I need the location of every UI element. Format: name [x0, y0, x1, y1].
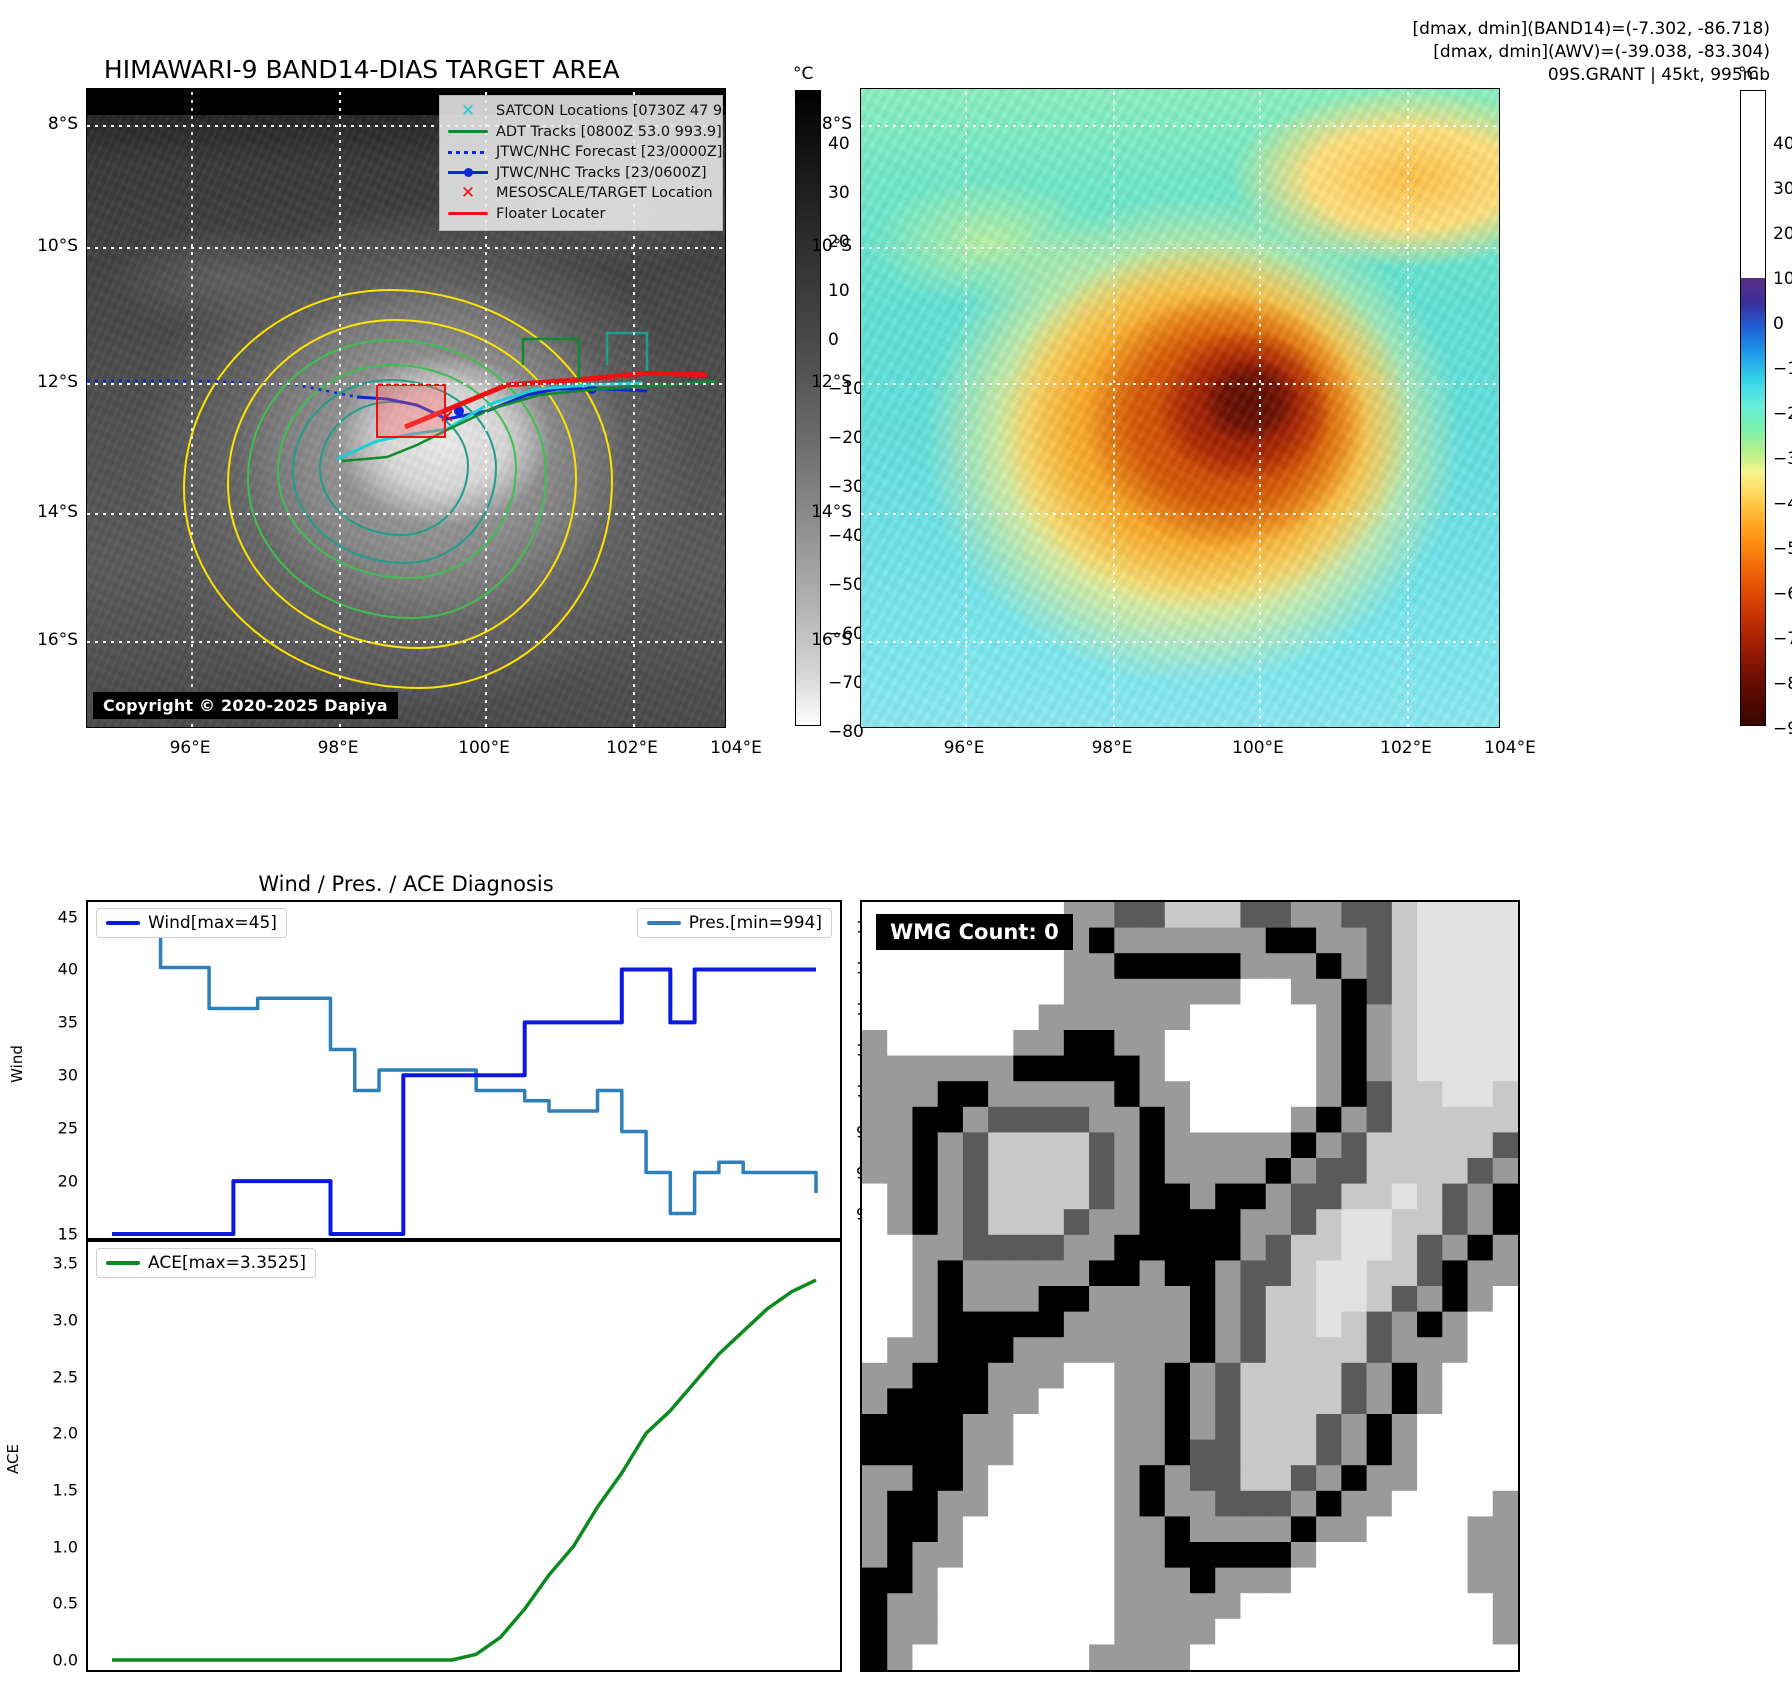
wmg-cell	[938, 1184, 964, 1210]
wmg-cell	[1165, 1184, 1191, 1210]
wmg-cell	[912, 1312, 938, 1338]
wmg-cell	[1190, 1004, 1216, 1030]
ir-lat-tick: 16°S	[37, 630, 78, 650]
forecast-dotted-line-icon	[447, 144, 489, 160]
wmg-cell	[1064, 1388, 1090, 1414]
wmg-cell	[1316, 1644, 1342, 1670]
wmg-cell	[938, 1465, 964, 1491]
wmg-cell	[1442, 1209, 1468, 1235]
wmg-cell	[887, 1056, 913, 1082]
wmg-cell	[1013, 1516, 1039, 1542]
wmg-cell	[1291, 1440, 1317, 1466]
wmg-cell	[988, 1619, 1014, 1645]
gridline-lon-98e	[1113, 89, 1115, 727]
wmg-cell	[1240, 1388, 1266, 1414]
wmg-cell	[1417, 1184, 1443, 1210]
wmg-cell	[1291, 1235, 1317, 1261]
ace-y-tick: 0.0	[53, 1651, 78, 1670]
wmg-cell	[1316, 1363, 1342, 1389]
wmg-cell	[1367, 1081, 1393, 1107]
wmg-cell	[912, 1568, 938, 1594]
wmg-cell	[862, 1030, 888, 1056]
wmg-cell	[963, 953, 989, 979]
wmg-cell	[1140, 1491, 1166, 1517]
wmg-cell	[1215, 1491, 1241, 1517]
wmg-cell	[1165, 1568, 1191, 1594]
wmg-cell	[1140, 1056, 1166, 1082]
wmg-cell	[1341, 1107, 1367, 1133]
wmg-cell	[1392, 1414, 1418, 1440]
wmg-cell	[1266, 1107, 1292, 1133]
wmg-cell	[1039, 1030, 1065, 1056]
wmg-cell	[1417, 1312, 1443, 1338]
wmg-cell	[862, 1312, 888, 1338]
wmg-cell	[887, 1004, 913, 1030]
wmg-cell	[1341, 1184, 1367, 1210]
gridline-lat-16s	[861, 641, 1499, 643]
ace-y-tick: 2.0	[53, 1424, 78, 1443]
wmg-cell	[1468, 1004, 1494, 1030]
ace-y-tick: 3.5	[53, 1254, 78, 1273]
wmg-cell	[1089, 1363, 1115, 1389]
wmg-cell	[1493, 1081, 1518, 1107]
wmg-cell	[1089, 1030, 1115, 1056]
wmg-cell	[938, 1644, 964, 1670]
wmg-cell	[1442, 1158, 1468, 1184]
wmg-cell	[963, 1465, 989, 1491]
wmg-cell	[1367, 1619, 1393, 1645]
wmg-cell	[1064, 1132, 1090, 1158]
pressure-legend[interactable]: Pres.[min=994]	[637, 908, 832, 938]
wmg-cell	[963, 1337, 989, 1363]
wmg-cell	[1266, 1312, 1292, 1338]
wmg-cell	[1064, 1056, 1090, 1082]
wmg-cell	[1165, 1004, 1191, 1030]
wmg-cell	[1493, 1312, 1518, 1338]
wmg-cell	[1190, 1260, 1216, 1286]
wmg-cell	[1013, 1593, 1039, 1619]
wmg-cell	[1013, 1619, 1039, 1645]
wmg-cell	[1417, 953, 1443, 979]
wmg-cell	[1089, 1491, 1115, 1517]
wind-axis-label: Wind	[8, 1045, 26, 1083]
wmg-cell	[1266, 1056, 1292, 1082]
legend-item-mesoscale[interactable]: ✕ MESOSCALE/TARGET Location	[447, 183, 715, 204]
wmg-cell	[1367, 1593, 1393, 1619]
wmg-cell	[963, 1542, 989, 1568]
wmg-cell	[887, 1132, 913, 1158]
wmg-cell	[1341, 1132, 1367, 1158]
wmg-cell	[1493, 928, 1518, 954]
wmg-cell	[938, 1056, 964, 1082]
wmg-cell	[1013, 1491, 1039, 1517]
wmg-cell	[1190, 1158, 1216, 1184]
wmg-cell	[1013, 1440, 1039, 1466]
legend-item-satcon[interactable]: ✕ SATCON Locations [0730Z 47 993]	[447, 101, 715, 122]
wmg-cell	[1190, 1644, 1216, 1670]
wmg-cell	[1089, 1465, 1115, 1491]
wmg-cell	[1367, 953, 1393, 979]
wmg-cell	[988, 1516, 1014, 1542]
wmg-cell	[1367, 1260, 1393, 1286]
wmg-cell	[1190, 1337, 1216, 1363]
wmg-cell	[1039, 1568, 1065, 1594]
ace-y-tick: 1.5	[53, 1481, 78, 1500]
wmg-cell	[1316, 1158, 1342, 1184]
wmg-cell	[1266, 1004, 1292, 1030]
wmg-cell	[1341, 1286, 1367, 1312]
wmg-cell	[1442, 1184, 1468, 1210]
wmg-cell	[1417, 1414, 1443, 1440]
wmg-cell	[963, 1312, 989, 1338]
wmg-cell	[1417, 1235, 1443, 1261]
wmg-cell	[1039, 1107, 1065, 1133]
ir-lat-axis: 8°S 10°S 12°S 14°S 16°S	[0, 88, 78, 728]
wmg-cell	[1140, 1081, 1166, 1107]
wmg-cell	[988, 1542, 1014, 1568]
wmg-cell	[1013, 1132, 1039, 1158]
wmg-cell	[1468, 1030, 1494, 1056]
gridline-lat-16s	[87, 641, 725, 643]
awv-cb-tick: −30	[1773, 449, 1792, 469]
wmg-cell	[1039, 1235, 1065, 1261]
wmg-cell	[963, 1004, 989, 1030]
wmg-cell	[1190, 1619, 1216, 1645]
ace-y-tick: 1.0	[53, 1537, 78, 1556]
wmg-cell	[1367, 1414, 1393, 1440]
wmg-cell	[938, 1593, 964, 1619]
wmg-cell	[1064, 1337, 1090, 1363]
wmg-cell	[1140, 1619, 1166, 1645]
wmg-cell	[1392, 1337, 1418, 1363]
wmg-cell	[1417, 1465, 1443, 1491]
gridline-lat-12s	[87, 383, 725, 385]
wmg-cell	[1468, 1081, 1494, 1107]
wmg-cell	[1493, 1132, 1518, 1158]
awv-colorbar-unit: °C	[1738, 64, 1758, 84]
wmg-cell	[1140, 979, 1166, 1005]
wmg-cell	[1165, 1619, 1191, 1645]
wmg-cell	[963, 1286, 989, 1312]
wmg-cell	[963, 1363, 989, 1389]
wmg-cell	[1291, 1619, 1317, 1645]
wmg-cell	[1215, 1337, 1241, 1363]
wmg-cell	[1215, 1235, 1241, 1261]
wmg-cell	[1468, 1312, 1494, 1338]
wmg-cell	[1140, 1542, 1166, 1568]
wmg-cell	[912, 1158, 938, 1184]
awv-lat-tick: 12°S	[811, 372, 852, 392]
wmg-cell	[1039, 1209, 1065, 1235]
wmg-cell	[1367, 1465, 1393, 1491]
ace-legend-swatch	[106, 1261, 140, 1265]
wmg-cell	[1013, 1568, 1039, 1594]
wmg-cell	[1266, 1414, 1292, 1440]
wmg-cell	[862, 1235, 888, 1261]
wmg-cell	[1140, 1158, 1166, 1184]
wmg-cell	[912, 1363, 938, 1389]
wmg-cell	[1165, 1363, 1191, 1389]
wmg-cell	[938, 1004, 964, 1030]
wmg-cell	[1417, 1158, 1443, 1184]
wmg-cell	[1493, 1516, 1518, 1542]
wmg-cell	[1442, 1056, 1468, 1082]
wmg-cell	[1291, 1644, 1317, 1670]
wmg-cell	[1316, 1312, 1342, 1338]
ace-legend-label: ACE[max=3.3525]	[148, 1253, 306, 1273]
wmg-cell	[1367, 1337, 1393, 1363]
ir-title-line1: HIMAWARI-9 BAND14-DIAS TARGET AREA	[104, 55, 620, 84]
wmg-cell	[1165, 979, 1191, 1005]
awv-satellite-image-panel[interactable]	[860, 88, 1500, 728]
wmg-cell	[1240, 1030, 1266, 1056]
copyright-notice: Copyright © 2020-2025 Dapiya	[93, 692, 398, 719]
wmg-cell	[887, 1465, 913, 1491]
wmg-cell	[1240, 1286, 1266, 1312]
legend-label-jtwc-tracks: JTWC/NHC Tracks [23/0600Z]	[496, 163, 707, 184]
wmg-cell	[887, 1568, 913, 1594]
wmg-cell	[1468, 1593, 1494, 1619]
wmg-cell	[862, 1593, 888, 1619]
wmg-cell	[1140, 1644, 1166, 1670]
wmg-cell	[988, 1107, 1014, 1133]
wmg-cell	[1240, 1465, 1266, 1491]
wmg-cell	[1165, 928, 1191, 954]
wmg-cell	[1266, 1619, 1292, 1645]
wmg-cell	[862, 1056, 888, 1082]
wmg-cell	[1417, 1286, 1443, 1312]
wmg-cell	[1013, 953, 1039, 979]
wmg-cell	[1013, 1465, 1039, 1491]
ir-lat-tick: 8°S	[48, 114, 78, 134]
awv-lat-tick: 14°S	[811, 502, 852, 522]
awv-cb-tick: 20	[1773, 224, 1792, 244]
wmg-cell	[1013, 1004, 1039, 1030]
wmg-cell	[912, 1184, 938, 1210]
wmg-cell	[1039, 1516, 1065, 1542]
wmg-cell	[988, 1312, 1014, 1338]
ace-chart[interactable]: ACE[max=3.3525]	[86, 1240, 842, 1672]
legend-item-adt[interactable]: ADT Tracks [0800Z 53.0 993.9]	[447, 122, 715, 143]
wmg-cell	[988, 1081, 1014, 1107]
legend-item-jtwc-tracks[interactable]: JTWC/NHC Tracks [23/0600Z]	[447, 163, 715, 184]
wmg-cell	[1417, 1030, 1443, 1056]
wind-pressure-chart[interactable]: Wind[max=45] Pres.[min=994]	[86, 900, 842, 1240]
wmg-cell	[1039, 1286, 1065, 1312]
wmg-cell	[1493, 1337, 1518, 1363]
wmg-cell	[862, 1414, 888, 1440]
wmg-cell	[963, 1107, 989, 1133]
legend-item-forecast[interactable]: JTWC/NHC Forecast [23/0000Z]	[447, 142, 715, 163]
wmg-cell	[887, 1337, 913, 1363]
wmg-cell	[1442, 1465, 1468, 1491]
wmg-cell	[1165, 1235, 1191, 1261]
wmg-cell	[988, 1491, 1014, 1517]
wmg-cell	[1341, 979, 1367, 1005]
wmg-cell	[1341, 1235, 1367, 1261]
wmg-cell	[1089, 1235, 1115, 1261]
wmg-cell	[1341, 1388, 1367, 1414]
wmg-cell	[1064, 1030, 1090, 1056]
wmg-cell	[1493, 1056, 1518, 1082]
wmg-cell	[1291, 1465, 1317, 1491]
wmg-cell	[1468, 1414, 1494, 1440]
wmg-cell	[1316, 1414, 1342, 1440]
awv-cb-tick: 30	[1773, 179, 1792, 199]
wmg-cell	[1316, 1440, 1342, 1466]
wmg-cell	[1392, 1644, 1418, 1670]
wmg-cell	[1190, 1593, 1216, 1619]
wmg-cell	[1417, 1132, 1443, 1158]
wmg-cell	[1039, 1081, 1065, 1107]
wmg-cell	[1140, 1260, 1166, 1286]
wmg-cell	[1140, 1465, 1166, 1491]
wmg-cell	[988, 1158, 1014, 1184]
wmg-cell	[1140, 1235, 1166, 1261]
wmg-cell	[912, 1132, 938, 1158]
wmg-cell	[988, 1363, 1014, 1389]
wmg-cell	[1190, 1184, 1216, 1210]
wmg-cell	[1468, 1491, 1494, 1517]
wmg-cell	[1291, 1209, 1317, 1235]
wmg-cell	[938, 1107, 964, 1133]
wmg-cell	[1367, 1363, 1393, 1389]
wmg-cell	[1341, 1440, 1367, 1466]
ace-legend[interactable]: ACE[max=3.3525]	[96, 1248, 316, 1278]
wmg-cell	[1493, 1158, 1518, 1184]
wmg-cell	[1442, 902, 1468, 928]
wmg-cell	[1341, 1209, 1367, 1235]
wmg-cell	[1190, 1056, 1216, 1082]
wmg-cell	[1190, 979, 1216, 1005]
gridline-lon-96e	[965, 89, 967, 727]
wmg-cell	[862, 1542, 888, 1568]
wmg-cell	[963, 1030, 989, 1056]
wmg-cell	[1240, 1132, 1266, 1158]
wmg-cell	[1089, 1056, 1115, 1082]
wmg-cell	[1140, 1593, 1166, 1619]
wmg-cell	[1165, 1388, 1191, 1414]
wmg-cell	[1240, 1568, 1266, 1594]
wmg-cell	[1240, 1491, 1266, 1517]
wmg-cell	[1064, 1260, 1090, 1286]
wmg-cell	[1442, 1107, 1468, 1133]
pressure-legend-label: Pres.[min=994]	[689, 913, 822, 933]
wmg-cell	[1468, 1132, 1494, 1158]
wmg-cell	[1442, 953, 1468, 979]
wmg-cell	[1039, 1132, 1065, 1158]
wmg-cell	[862, 1209, 888, 1235]
wmg-cell	[1417, 1056, 1443, 1082]
wmg-cell	[1417, 1644, 1443, 1670]
wmg-cell	[1291, 1491, 1317, 1517]
wmg-cell	[1266, 1388, 1292, 1414]
wmg-cell	[1367, 1132, 1393, 1158]
gridline-lon-102e	[1407, 89, 1409, 727]
wmg-cell	[1291, 928, 1317, 954]
wmg-cell	[912, 1593, 938, 1619]
wmg-cell	[1392, 1516, 1418, 1542]
wmg-cell	[988, 1056, 1014, 1082]
ir-lon-tick: 98°E	[318, 738, 359, 758]
wmg-cell	[1468, 1235, 1494, 1261]
wmg-cell	[1341, 1491, 1367, 1517]
wmg-cell	[1442, 928, 1468, 954]
wind-legend[interactable]: Wind[max=45]	[96, 908, 287, 938]
wmg-cell	[1114, 1056, 1140, 1082]
legend-item-floater[interactable]: Floater Locater	[447, 204, 715, 225]
wmg-cell	[1039, 1644, 1065, 1670]
wmg-cell	[1291, 1568, 1317, 1594]
wmg-cell	[1468, 1644, 1494, 1670]
ir-satellite-image-panel[interactable]: ✕ Copyright © 2020-2025 Dapiya ✕ SATCON …	[86, 88, 726, 728]
wmg-cell	[1114, 1465, 1140, 1491]
wmg-cell	[1316, 902, 1342, 928]
wmg-cell	[887, 1107, 913, 1133]
wmg-cell	[1493, 1260, 1518, 1286]
wmg-cell	[1392, 1158, 1418, 1184]
wmg-cell	[1291, 1260, 1317, 1286]
wmg-cell	[1468, 928, 1494, 954]
wmg-cell	[912, 1388, 938, 1414]
wmg-cell	[1089, 1286, 1115, 1312]
wmg-cell	[1064, 953, 1090, 979]
wmg-cell	[1316, 1388, 1342, 1414]
wmg-panel[interactable]: WMG Count: 0	[860, 900, 1520, 1672]
wmg-cell	[1064, 1081, 1090, 1107]
wmg-cell	[1392, 1542, 1418, 1568]
wmg-cell	[1240, 1158, 1266, 1184]
wmg-cell	[1367, 1388, 1393, 1414]
wmg-cell	[1417, 1440, 1443, 1466]
wind-pressure-svg	[88, 902, 840, 1238]
wind-y-tick: 45	[58, 907, 78, 926]
wmg-cell	[1089, 1209, 1115, 1235]
awv-lon-tick: 96°E	[944, 738, 985, 758]
wmg-cell	[1493, 979, 1518, 1005]
wmg-cell	[1039, 1465, 1065, 1491]
wmg-cell	[988, 1286, 1014, 1312]
wmg-cell	[1493, 1465, 1518, 1491]
wmg-cell	[1089, 902, 1115, 928]
wmg-cell	[1140, 1030, 1166, 1056]
wmg-cell	[1266, 1158, 1292, 1184]
wmg-cell	[1190, 1107, 1216, 1133]
wmg-cell	[1064, 1440, 1090, 1466]
wmg-cell	[1140, 1209, 1166, 1235]
wmg-cell	[1089, 1312, 1115, 1338]
wmg-cell	[1442, 979, 1468, 1005]
wmg-cell	[912, 979, 938, 1005]
wmg-cell	[1114, 1337, 1140, 1363]
wmg-cell	[1468, 1260, 1494, 1286]
ir-lat-tick: 12°S	[37, 372, 78, 392]
wmg-cell	[1392, 1081, 1418, 1107]
mesoscale-target-marker: ✕	[439, 406, 455, 428]
wmg-cell	[1468, 1337, 1494, 1363]
wmg-cell	[1089, 1388, 1115, 1414]
wmg-cell	[1417, 1388, 1443, 1414]
wmg-cell	[1165, 1132, 1191, 1158]
wmg-cell	[1291, 1337, 1317, 1363]
wmg-cell	[1215, 1440, 1241, 1466]
wind-y-tick: 35	[58, 1013, 78, 1032]
wmg-cell	[1013, 1056, 1039, 1082]
wmg-cell	[963, 1644, 989, 1670]
wmg-cell	[862, 1644, 888, 1670]
wmg-cell	[1114, 1440, 1140, 1466]
wmg-cell	[963, 1209, 989, 1235]
